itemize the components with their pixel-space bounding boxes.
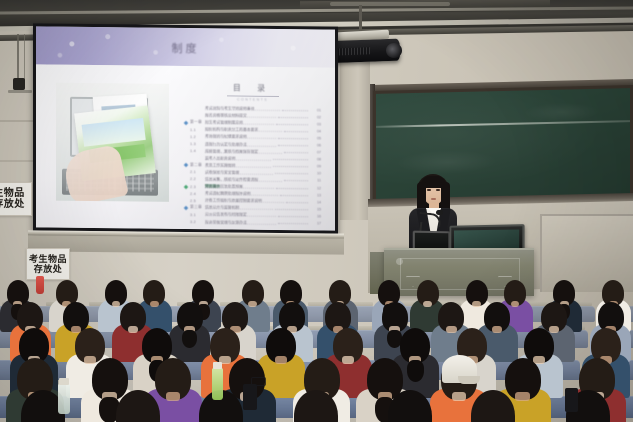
audience-member [294, 390, 338, 422]
toc-row-page: 11 [310, 179, 321, 183]
chalk-smudge-upper [523, 102, 599, 123]
slide-title: 制度 [172, 40, 200, 56]
toc-row-number: 3.1 [190, 213, 205, 217]
toc-subheading: CONTENTS [184, 97, 321, 102]
toc-row-page: 01 [310, 108, 321, 112]
toc-leader-dots [278, 144, 308, 146]
chalk-smudge [396, 149, 498, 175]
audience-member-neck [472, 301, 481, 307]
toc-row-number: 1.4 [190, 149, 205, 153]
toc-bullet-blank [184, 107, 188, 111]
toc-row-number: 第三章 [190, 205, 205, 210]
toc-list: 考试须知与考生守则说明事项01报名资格审核及材料提交02第一章招生考试管理制度总… [184, 105, 321, 227]
toc-leader-dots [275, 172, 308, 174]
toc-row-text: 考务工作实施细则 [205, 163, 271, 169]
audience-member-ponytail [182, 330, 197, 349]
toc-row-text: 突发事件应急处置预案 [205, 184, 274, 190]
toc-bullet-blank [184, 185, 188, 189]
presenter-mouth [431, 198, 436, 200]
audience-member-neck [423, 301, 432, 307]
toc-row-text: 公示公告发布与时限规定 [205, 213, 276, 219]
toc-leader-dots [273, 158, 308, 160]
toc-row-number: 1.1 [190, 128, 205, 132]
toc-row-number: 3.2 [190, 220, 205, 224]
toc-bullet-blank [184, 135, 188, 139]
toc-leader-dots [278, 137, 308, 139]
toc-row-page: 15 [310, 207, 321, 211]
drink-bottle-secondary-cap [59, 378, 69, 385]
toc-row-number: 1.3 [190, 142, 205, 146]
toc-row-text: 投诉举报受理与反馈办法 [205, 220, 276, 226]
toc-bullet-icon [184, 163, 189, 168]
toc-leader-dots [275, 208, 308, 210]
toc-bullet-blank [184, 192, 188, 196]
toc-row-number: 2.1 [190, 170, 205, 174]
toc-bullet-blank [184, 156, 188, 160]
slide-table-of-contents: 目 录 CONTENTS 考试须知与考生守则说明事项01报名资格审核及材料提交0… [184, 82, 321, 216]
audience-member-ponytail [407, 360, 424, 382]
audience-member-head [471, 390, 515, 422]
toc-bullet-blank [184, 177, 188, 181]
hanging-cable [17, 34, 19, 79]
toc-leader-dots [282, 109, 308, 111]
toc-bullet-blank [184, 213, 188, 217]
toc-row-text: 违规行为认定与处理办法 [205, 142, 276, 148]
audience-member [388, 390, 432, 422]
toc-row-text: 考场规则与纪律要求说明 [205, 135, 276, 141]
chalk-smear-line [376, 120, 630, 128]
audience-member-head [388, 390, 432, 422]
toc-row-number: 第二章 [190, 163, 205, 168]
toc-row-text: 评卷工作组织与质量控制要求说明 [205, 198, 284, 204]
toc-bullet-blank [184, 170, 188, 174]
toc-bullet-icon [184, 206, 189, 211]
sign-lower-line1: 考生物品 [29, 254, 67, 264]
toc-row-page: 06 [310, 143, 321, 147]
sign-belongings-storage-upper: 生物品 存放处 [0, 182, 32, 216]
toc-bullet-blank [184, 220, 188, 224]
toc-heading: 目 录 [184, 82, 321, 94]
presenter-eye-left [427, 189, 431, 191]
toc-row-text: 招生考试管理制度总则 [205, 120, 274, 126]
mobile-phone[interactable] [243, 384, 257, 410]
toc-row-number: 1.2 [190, 135, 205, 139]
toc-row-page: 10 [310, 172, 321, 176]
toc-row-text: 考试须知与考生守则说明事项 [205, 106, 280, 112]
wall-fixture [13, 78, 25, 90]
sign-upper-line2: 存放处 [0, 199, 25, 211]
toc-leader-dots [276, 123, 308, 125]
audience-member-neck [452, 392, 466, 401]
toc-leader-dots [278, 116, 308, 118]
toc-row-page: 17 [310, 221, 321, 225]
toc-bullet-blank [184, 199, 188, 203]
audience-member-neck [150, 301, 159, 307]
audience-member-neck [342, 356, 354, 364]
toc-leader-dots [276, 187, 308, 189]
toc-leader-dots [284, 180, 308, 182]
podium-knob [396, 258, 403, 265]
sign-upper-line1: 生物品 [0, 188, 25, 200]
audience-member-neck [515, 392, 529, 401]
toc-leader-dots [284, 130, 308, 132]
audience-member-neck [492, 326, 502, 333]
wall-fixture-plate [8, 90, 32, 93]
toc-row-text: 监考人员职责说明 [205, 156, 271, 162]
toc-row-number: 2.5 [190, 199, 205, 203]
toc-leader-dots [284, 151, 308, 153]
wall-below-screen [28, 235, 344, 254]
toc-leader-dots [280, 194, 308, 196]
drink-bottle-secondary[interactable] [58, 384, 70, 414]
toc-bullet-icon [184, 120, 189, 125]
toc-bullet-blank [184, 114, 188, 118]
wall-column [340, 60, 370, 220]
audience-member [471, 390, 515, 422]
toc-row-number: 2.3 [190, 185, 205, 189]
audience-member-neck [446, 326, 456, 333]
toc-row-text: 信息采集、核验与证件检查流程 [205, 177, 282, 183]
toc-leader-dots [278, 222, 308, 224]
toc-row: 3.2投诉举报受理与反馈办法17 [184, 218, 321, 227]
toc-row-text: 考试违纪舞弊处理程序说明 [205, 191, 278, 197]
audience-member-neck [166, 392, 180, 401]
hanging-cable-secondary [24, 34, 25, 84]
toc-row-page: 08 [310, 158, 321, 162]
drink-bottle-cap [213, 362, 222, 369]
drink-bottle[interactable] [212, 368, 223, 400]
toc-row-number: 2.4 [190, 192, 205, 196]
toc-leader-dots [273, 165, 308, 167]
microphone-icon [436, 210, 443, 215]
toc-leader-dots [278, 215, 308, 217]
drink-bottle-far-left[interactable] [36, 276, 44, 294]
slide-title-banner: 制度 [36, 26, 335, 67]
toc-row-page: 14 [310, 200, 321, 204]
audience-member-head [116, 390, 160, 422]
toc-row-page: 02 [310, 115, 321, 119]
toc-row-text: 信息公开与监督机制 [205, 206, 273, 212]
toc-row-text: 成绩管理、复核与档案保存规定 [205, 149, 282, 155]
audience-member-neck [511, 301, 520, 307]
audience-member-neck [248, 301, 257, 307]
toc-bullet-blank [184, 142, 188, 146]
audience-member-neck [128, 326, 138, 333]
toc-row-text: 报名资格审核及材料提交 [205, 113, 276, 119]
slide-photo [56, 83, 169, 202]
mobile-phone-secondary[interactable] [565, 388, 578, 412]
toc-bullet-blank [184, 128, 188, 132]
toc-leader-dots [286, 201, 308, 203]
toc-row-page: 09 [310, 165, 321, 169]
photo-brochure-image [82, 118, 146, 147]
audience-member [116, 390, 160, 422]
toc-row-page: 13 [310, 193, 321, 197]
baseball-cap-brim [458, 376, 480, 384]
slide-body: 目 录 CONTENTS 考试须知与考生守则说明事项01报名资格审核及材料提交0… [36, 64, 335, 230]
toc-row-page: 03 [310, 122, 321, 126]
audience-member-head [294, 390, 338, 422]
audience-area [0, 272, 633, 422]
toc-row-page: 12 [310, 186, 321, 190]
toc-row-page: 07 [310, 150, 321, 154]
toc-bullet-blank [184, 149, 188, 153]
ceiling-pipe [330, 2, 450, 6]
toc-row-page: 16 [310, 214, 321, 218]
toc-row-number: 第一章 [190, 120, 205, 125]
audience-member [155, 358, 191, 422]
lecture-hall-scene: 制度 目 录 [0, 0, 633, 422]
projection-screen-frame: 制度 目 录 [33, 23, 338, 233]
presenter-eye-right [436, 189, 440, 191]
toc-row-page: 05 [310, 136, 321, 140]
toc-row-page: 04 [310, 129, 321, 133]
toc-row-text: 试卷保密与安全管理 [205, 170, 273, 176]
toc-row-number: 2.2 [190, 178, 205, 182]
audience-member-neck [275, 356, 287, 364]
projection-screen: 制度 目 录 [36, 26, 335, 230]
toc-row-text: 组织机构与职责分工的基本要求 [205, 128, 282, 134]
